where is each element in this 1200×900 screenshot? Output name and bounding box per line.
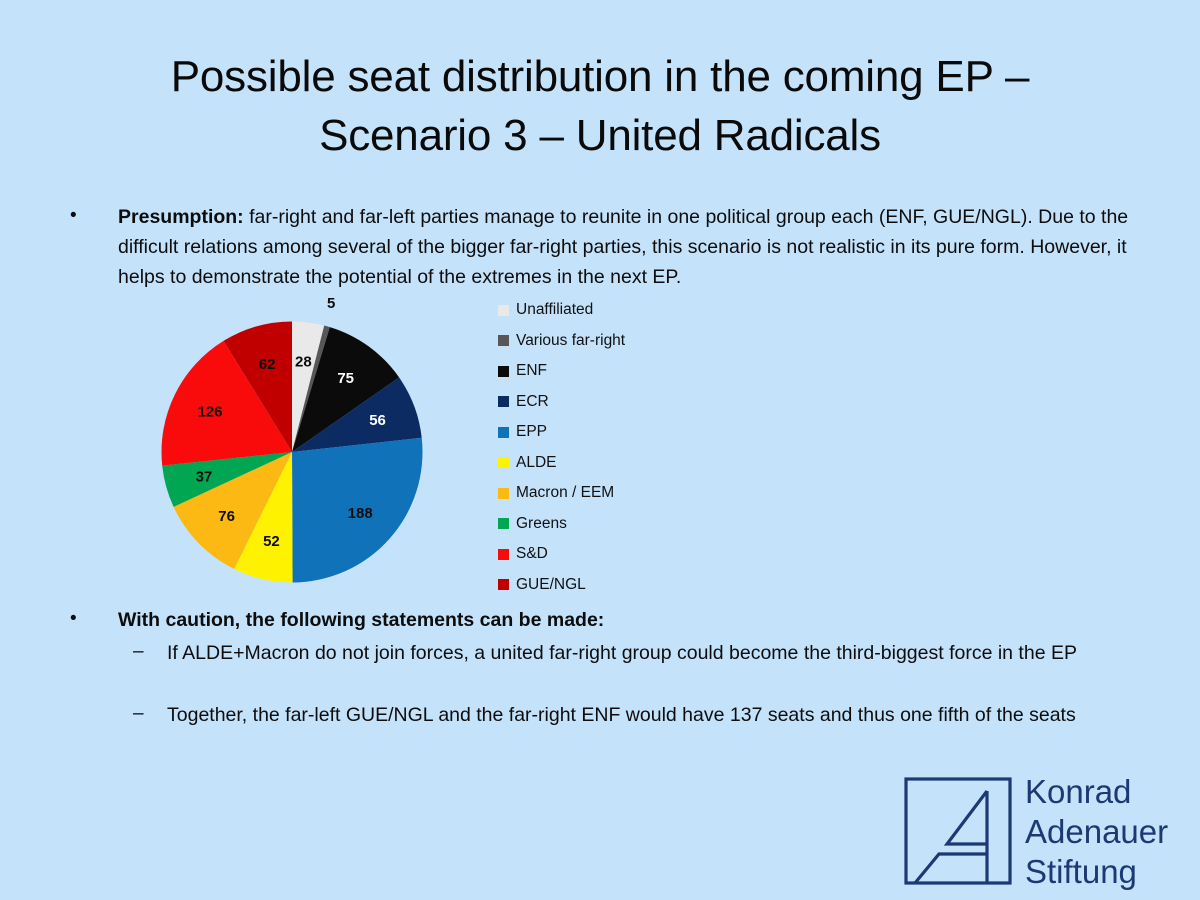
kas-logo-text: Konrad Adenauer Stiftung xyxy=(1025,772,1168,892)
legend-label: ENF xyxy=(516,362,547,380)
pie-data-label: 76 xyxy=(218,508,235,525)
chart-legend: UnaffiliatedVarious far-rightENFECREPPAL… xyxy=(498,295,710,600)
kas-logo-line-2: Adenauer xyxy=(1025,812,1168,852)
pie-data-label: 56 xyxy=(369,412,386,429)
legend-label: ECR xyxy=(516,393,549,411)
pie-data-label: 28 xyxy=(295,353,312,370)
bullet-marker: • xyxy=(70,606,77,632)
bullet-marker: • xyxy=(70,203,77,229)
bullet-presumption-body: far-right and far-left parties manage to… xyxy=(118,206,1128,288)
sub-bullet-alde-macron: If ALDE+Macron do not join forces, a uni… xyxy=(167,638,1127,668)
legend-item-enf: ENF xyxy=(498,356,710,387)
pie-data-label: 75 xyxy=(337,370,354,387)
pie-data-label: 62 xyxy=(259,356,276,373)
bullet-presumption: Presumption: far-right and far-left part… xyxy=(118,202,1138,292)
bullet-presumption-lead: Presumption: xyxy=(118,206,244,228)
legend-label: S&D xyxy=(516,545,548,563)
legend-item-greens: Greens xyxy=(498,509,710,540)
slide: Possible seat distribution in the coming… xyxy=(0,0,1200,900)
legend-item-alde: ALDE xyxy=(498,448,710,479)
legend-item-s-d: S&D xyxy=(498,539,710,570)
legend-label: Macron / EEM xyxy=(516,484,614,502)
pie-svg: 28755618852763712662 xyxy=(161,321,423,583)
legend-swatch-icon xyxy=(498,427,509,438)
sub-bullet-gue-enf: Together, the far-left GUE/NGL and the f… xyxy=(167,700,1127,730)
pie-data-label: 126 xyxy=(197,404,222,421)
page-title: Possible seat distribution in the coming… xyxy=(90,48,1110,165)
pie-data-label: 188 xyxy=(348,505,373,522)
bullet-with-caution: With caution, the following statements c… xyxy=(118,605,1138,635)
kas-logo-line-1: Konrad xyxy=(1025,772,1168,812)
pie-outside-label: 5 xyxy=(327,295,335,312)
seat-distribution-chart: 28755618852763712662 5 UnaffiliatedVario… xyxy=(150,295,710,595)
legend-swatch-icon xyxy=(498,488,509,499)
legend-label: ALDE xyxy=(516,454,557,472)
legend-item-epp: EPP xyxy=(498,417,710,448)
legend-swatch-icon xyxy=(498,335,509,346)
konrad-adenauer-stiftung-logo: Konrad Adenauer Stiftung xyxy=(903,772,1188,892)
legend-label: Various far-right xyxy=(516,332,625,350)
legend-swatch-icon xyxy=(498,305,509,316)
legend-label: EPP xyxy=(516,423,547,441)
kas-logo-mark-icon xyxy=(903,776,1013,886)
legend-label: GUE/NGL xyxy=(516,576,586,594)
legend-swatch-icon xyxy=(498,396,509,407)
sub-bullet-marker: – xyxy=(133,701,144,727)
kas-logo-line-3: Stiftung xyxy=(1025,852,1168,892)
sub-bullet-marker: – xyxy=(133,639,144,665)
legend-item-ecr: ECR xyxy=(498,387,710,418)
legend-item-gue-ngl: GUE/NGL xyxy=(498,570,710,601)
pie-data-label: 52 xyxy=(263,533,280,550)
legend-swatch-icon xyxy=(498,518,509,529)
legend-item-unaffiliated: Unaffiliated xyxy=(498,295,710,326)
legend-swatch-icon xyxy=(498,549,509,560)
legend-label: Unaffiliated xyxy=(516,301,593,319)
pie-data-label: 37 xyxy=(196,468,213,485)
legend-item-various-far-right: Various far-right xyxy=(498,326,710,357)
legend-swatch-icon xyxy=(498,579,509,590)
legend-swatch-icon xyxy=(498,457,509,468)
legend-label: Greens xyxy=(516,515,567,533)
legend-swatch-icon xyxy=(498,366,509,377)
pie-chart: 28755618852763712662 5 xyxy=(161,321,423,583)
legend-item-macron-eem: Macron / EEM xyxy=(498,478,710,509)
